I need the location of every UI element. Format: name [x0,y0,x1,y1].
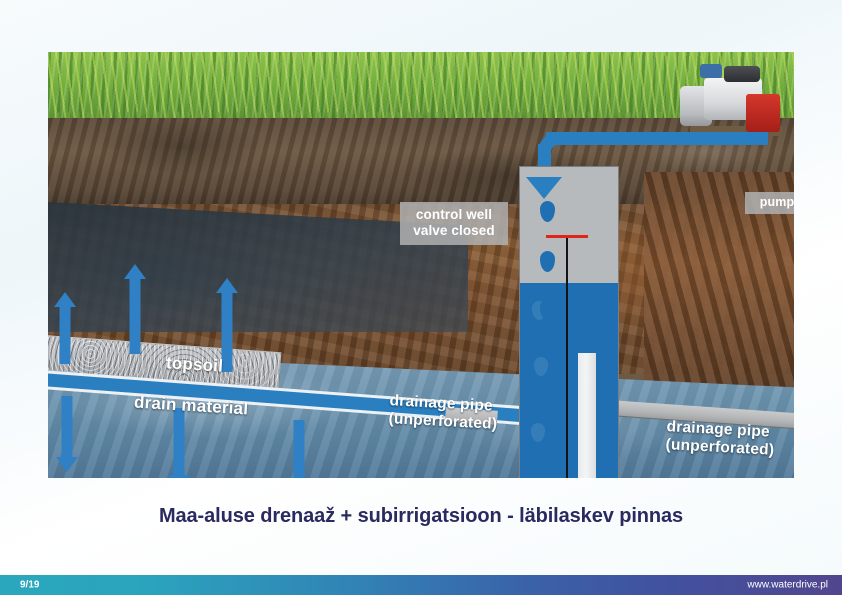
flow-arrow-down [288,420,310,478]
slide-footer: 9/19 www.waterdrive.pl [0,575,842,595]
slide-caption: Maa-aluse drenaaž + subirrigatsioon - lä… [0,505,842,528]
pump-inlet-port [700,64,722,78]
flow-arrow-down [56,396,78,472]
label-control-well-line1: control well [404,207,504,223]
water-texture-drop [531,423,545,442]
label-control-well: control well valve closed [400,202,508,245]
pump-air-filter-cover [724,66,760,82]
flow-arrow-up [124,264,146,354]
label-drainage-pipe-middle: drainage pipe (unperforated) [388,392,498,433]
control-well [519,166,619,478]
falling-water-drop [540,201,555,222]
water-texture-drop [534,357,548,376]
label-control-well-line2: valve closed [404,223,504,239]
footer-url[interactable]: www.waterdrive.pl [747,580,828,591]
pump-engine-red-block [746,94,780,132]
inlet-pipe-horizontal [546,132,768,145]
label-pump: pump [745,192,794,214]
label-drainage-pipe-right: drainage pipe (unperforated) [665,418,775,459]
well-water-level [520,283,618,478]
inlet-flow-arrowhead [526,177,562,199]
slide: control well valve closed pump topsoil d… [0,0,842,595]
label-topsoil: topsoil [165,353,223,376]
falling-water-drop [540,251,555,272]
flow-arrow-down [168,408,190,478]
valve-stem [566,238,568,478]
soil-cross-section-figure: control well valve closed pump topsoil d… [48,52,794,478]
page-number: 9/19 [20,580,39,591]
flow-arrow-up [54,292,76,364]
well-riser-pipe [578,353,596,478]
